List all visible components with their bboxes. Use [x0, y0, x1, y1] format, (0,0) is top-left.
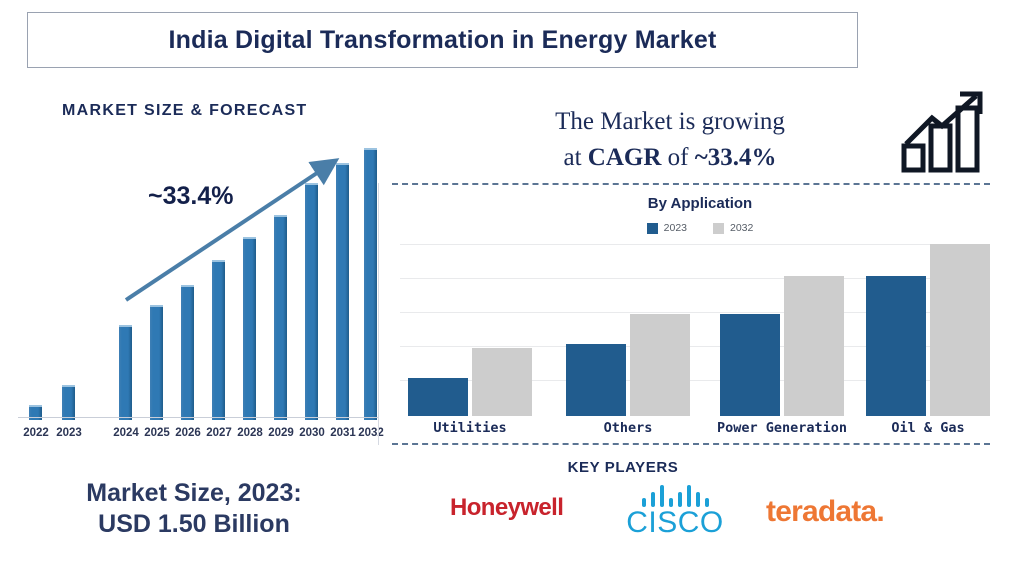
legend-item-2032: 2032 [713, 222, 753, 234]
market-size-line-2: USD 1.50 Billion [24, 509, 364, 540]
legend-label: 2023 [664, 222, 687, 234]
key-players-title: KEY PLAYERS [503, 459, 743, 476]
chart-legend: 20232032 [560, 222, 840, 234]
growth-statement-of: of [661, 144, 694, 171]
growth-statement-value: ~33.4% [695, 144, 777, 171]
title-box: India Digital Transformation in Energy M… [27, 12, 858, 68]
by-application-chart [400, 244, 980, 416]
vertical-divider [378, 183, 379, 445]
application-bar [566, 344, 626, 416]
growth-statement-line-1: The Market is growing [555, 108, 785, 135]
application-bar [408, 378, 468, 416]
market-size-callout: Market Size, 2023: USD 1.50 Billion [24, 478, 364, 541]
market-size-line-1: Market Size, 2023: [24, 478, 364, 509]
by-application-title: By Application [560, 195, 840, 212]
application-bar [472, 348, 532, 416]
left-chart-axis [18, 417, 378, 418]
growth-statement-cagr: CAGR [588, 144, 662, 171]
gridline [400, 244, 980, 245]
application-bar [630, 314, 690, 416]
cisco-logo: CISCO [600, 483, 750, 539]
category-label: Utilities [378, 420, 562, 436]
year-label: 2023 [49, 427, 89, 439]
market-size-forecast-heading: MARKET SIZE & FORECAST [62, 102, 308, 120]
cisco-bar [696, 492, 700, 507]
dashed-divider-top [392, 183, 990, 185]
application-bar [720, 314, 780, 416]
dashed-divider-bottom [392, 443, 990, 445]
teradata-logo: teradata. [766, 495, 884, 529]
application-bar [784, 276, 844, 416]
cisco-logo-text: CISCO [600, 507, 750, 539]
cisco-bar [687, 485, 691, 507]
cisco-bar [660, 485, 664, 507]
honeywell-logo: Honeywell [450, 494, 563, 522]
infographic-canvas: India Digital Transformation in Energy M… [0, 0, 1024, 575]
bar-chart-growth-icon [898, 88, 994, 174]
growth-statement: The Market is growing at CAGR of ~33.4% [460, 104, 880, 175]
cisco-bars-icon [600, 483, 750, 507]
legend-swatch [647, 223, 658, 234]
cisco-bar [651, 492, 655, 507]
page-title: India Digital Transformation in Energy M… [169, 26, 717, 55]
cisco-bar [678, 492, 682, 507]
legend-item-2023: 2023 [647, 222, 687, 234]
application-bar [930, 244, 990, 416]
legend-label: 2032 [730, 222, 753, 234]
application-bar [866, 276, 926, 416]
growth-arrow [10, 145, 380, 425]
growth-statement-at: at [564, 144, 588, 171]
legend-swatch [713, 223, 724, 234]
category-label: Oil & Gas [836, 420, 1020, 436]
